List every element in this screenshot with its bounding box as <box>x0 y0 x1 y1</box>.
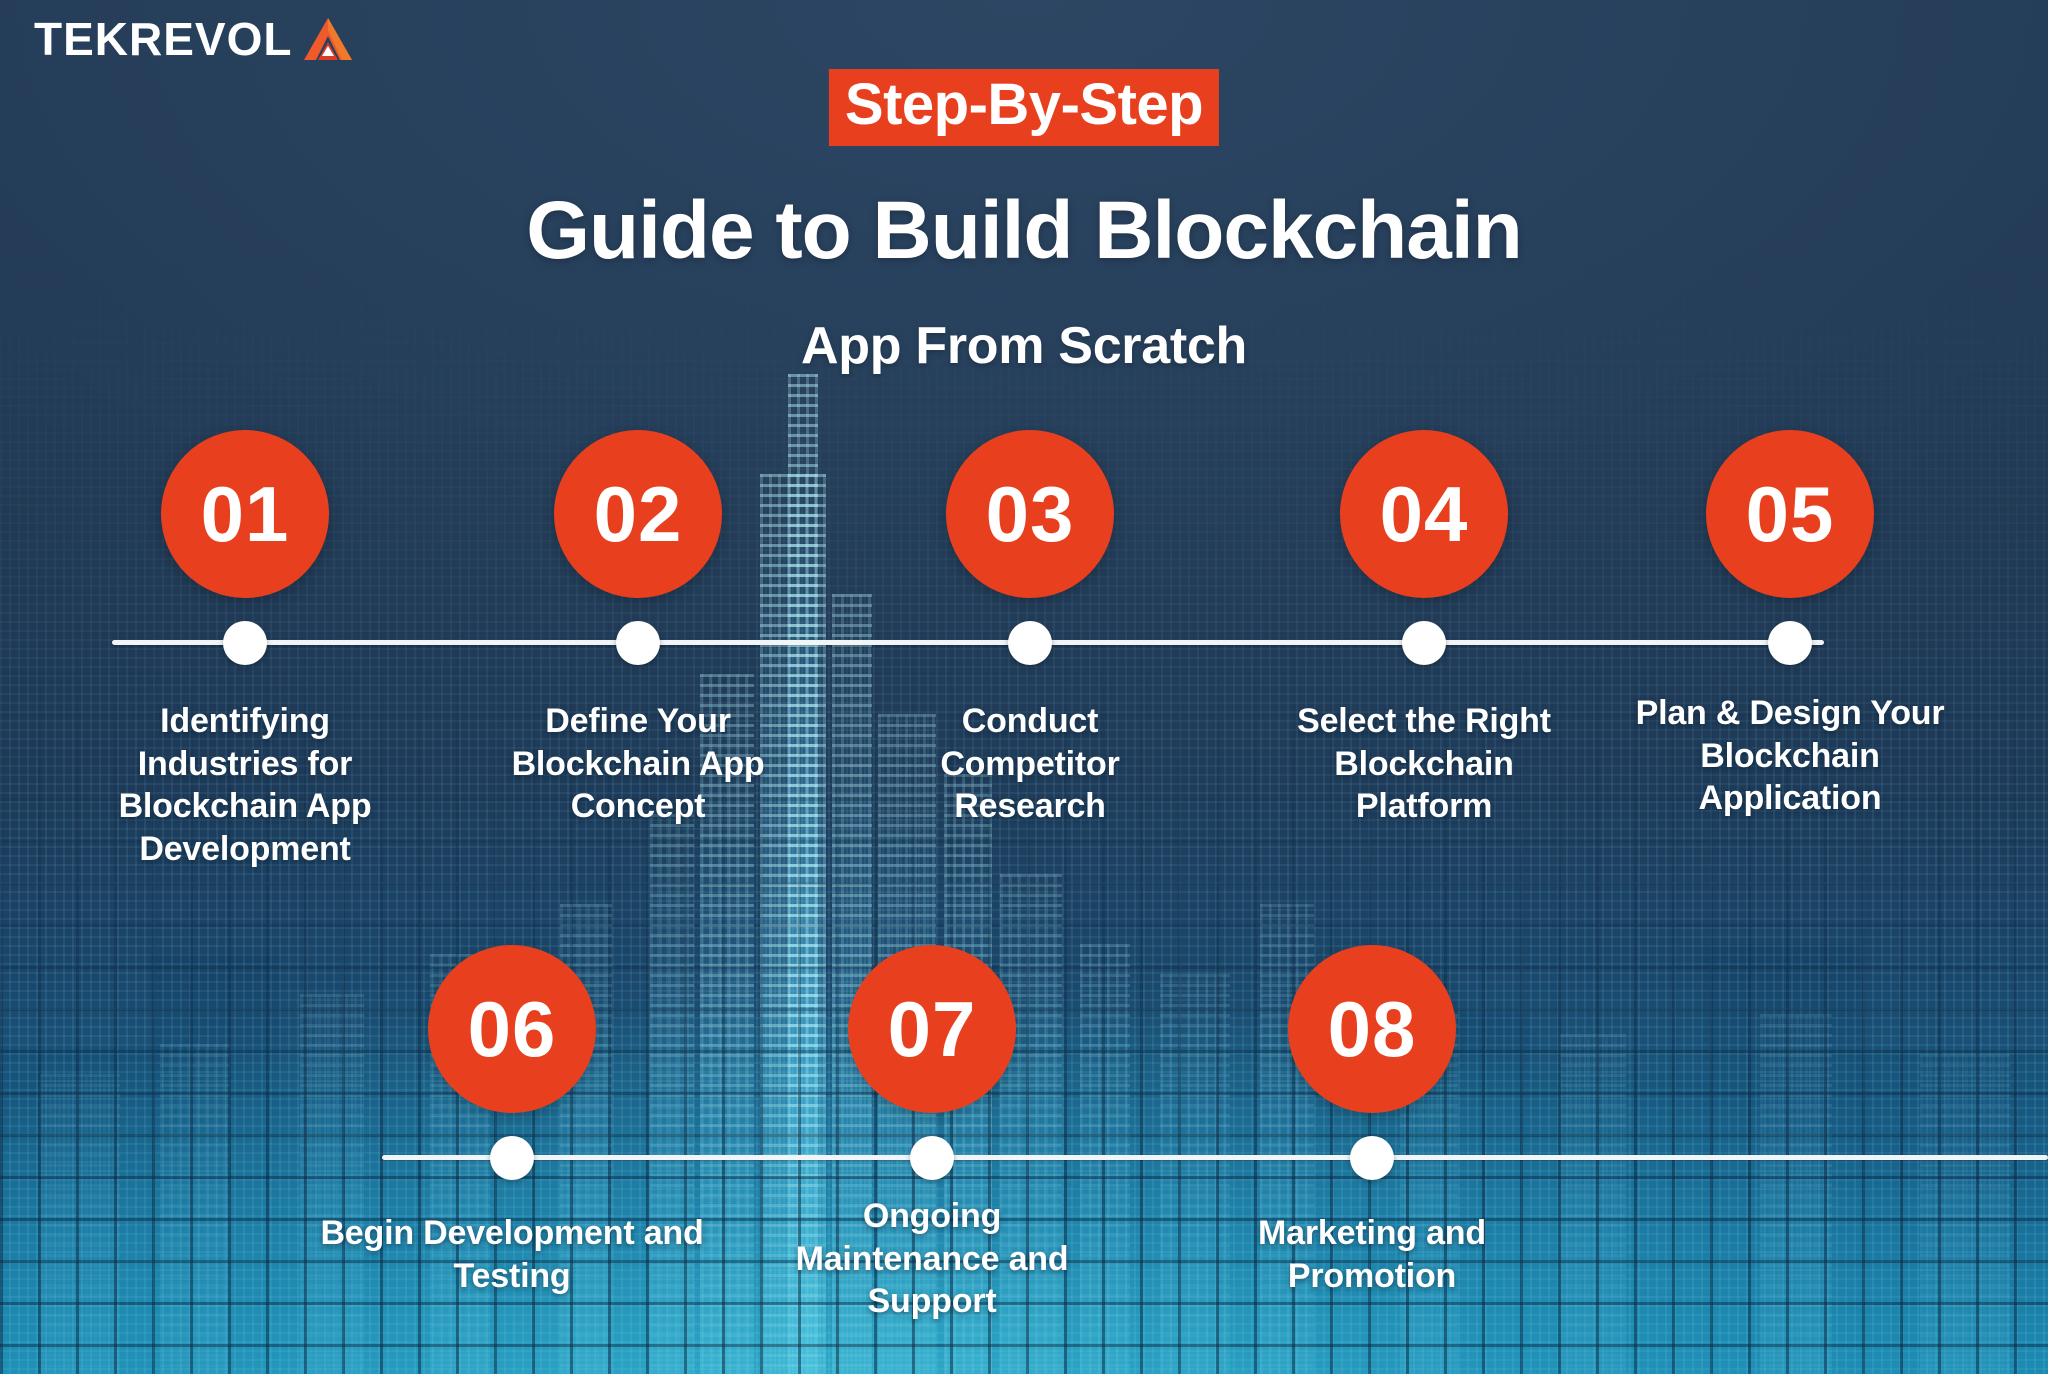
step-badge-05[interactable]: 05 <box>1706 430 1874 598</box>
timeline-dot-06 <box>490 1136 534 1180</box>
timeline-dot-08 <box>1350 1136 1394 1180</box>
step-number-05: 05 <box>1746 475 1835 553</box>
timeline-rail-top <box>112 640 1824 645</box>
step-badge-01[interactable]: 01 <box>161 430 329 598</box>
timeline-rail-bottom <box>382 1155 2048 1160</box>
timeline-dot-05 <box>1768 621 1812 665</box>
step-label-06: Begin Development and Testing <box>302 1212 722 1297</box>
step-label-02: Define Your Blockchain App Concept <box>473 700 803 828</box>
step-label-07: Ongoing Maintenance and Support <box>757 1195 1107 1323</box>
step-number-06: 06 <box>468 990 557 1068</box>
step-number-03: 03 <box>986 475 1075 553</box>
step-badge-04[interactable]: 04 <box>1340 430 1508 598</box>
step-number-01: 01 <box>201 475 290 553</box>
step-badge-02[interactable]: 02 <box>554 430 722 598</box>
step-number-08: 08 <box>1328 990 1417 1068</box>
timeline-dot-01 <box>223 621 267 665</box>
page-title: Guide to Build Blockchain <box>0 190 2048 272</box>
timeline-dot-04 <box>1402 621 1446 665</box>
step-label-01: Identifying Industries for Blockchain Ap… <box>80 700 410 870</box>
brand-logo[interactable]: TEKREVOL <box>34 16 354 62</box>
step-badge-08[interactable]: 08 <box>1288 945 1456 1113</box>
step-label-03: Conduct Competitor Research <box>880 700 1180 828</box>
eyebrow-text: Step-By-Step <box>845 75 1203 136</box>
step-number-07: 07 <box>888 990 977 1068</box>
step-label-04: Select the Right Blockchain Platform <box>1289 700 1559 828</box>
step-label-05: Plan & Design Your Blockchain Applicatio… <box>1625 692 1955 820</box>
eyebrow-banner: Step-By-Step <box>829 69 1219 146</box>
timeline-dot-02 <box>616 621 660 665</box>
step-label-08: Marketing and Promotion <box>1207 1212 1537 1297</box>
page-subtitle: App From Scratch <box>0 320 2048 372</box>
tekrevol-triangle-icon <box>302 16 354 62</box>
step-badge-03[interactable]: 03 <box>946 430 1114 598</box>
timeline-dot-03 <box>1008 621 1052 665</box>
brand-name: TEKREVOL <box>34 16 292 62</box>
step-badge-07[interactable]: 07 <box>848 945 1016 1113</box>
step-number-04: 04 <box>1380 475 1469 553</box>
step-badge-06[interactable]: 06 <box>428 945 596 1113</box>
timeline-dot-07 <box>910 1136 954 1180</box>
step-number-02: 02 <box>594 475 683 553</box>
